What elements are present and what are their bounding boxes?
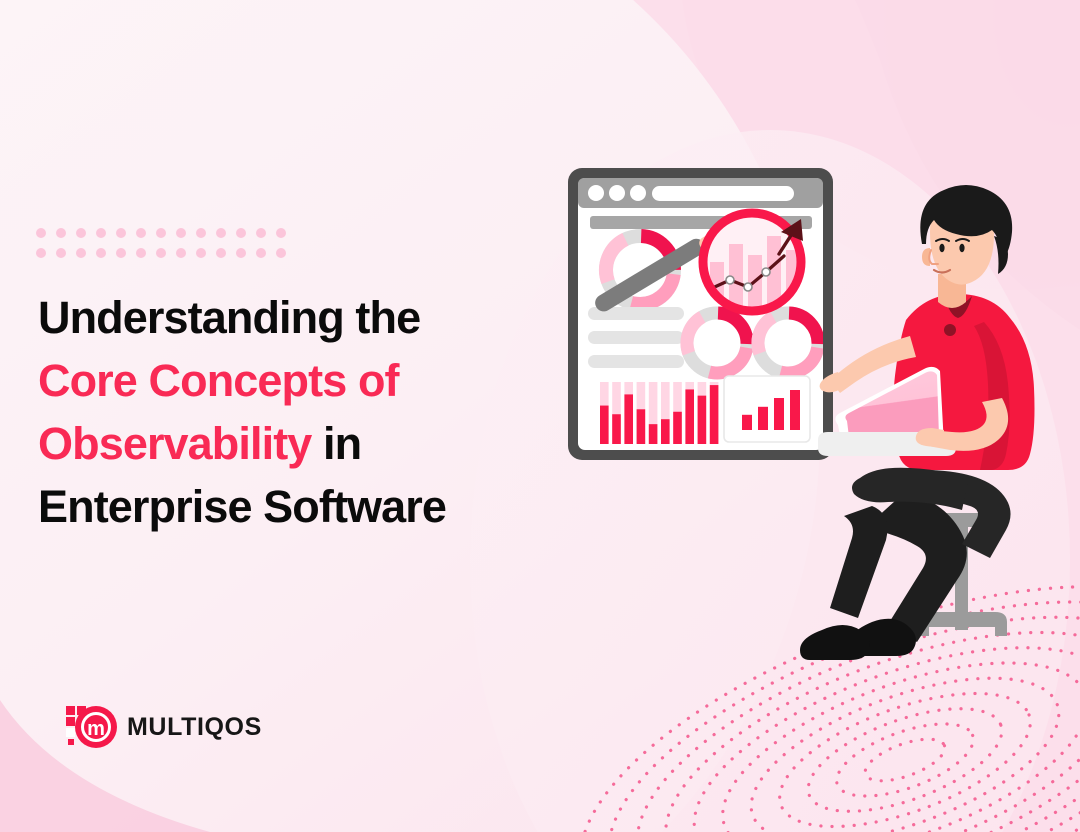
decor-dot (136, 228, 146, 238)
title-text: Enterprise Software (38, 481, 446, 532)
decor-dot (56, 228, 66, 238)
decor-dot (236, 228, 246, 238)
decor-dot (176, 248, 186, 258)
poster-canvas: Understanding theCore Concepts ofObserva… (0, 0, 1080, 832)
title-text: Understanding the (38, 292, 420, 343)
decor-dot (156, 248, 166, 258)
decor-dot (76, 248, 86, 258)
decor-dot (216, 228, 226, 238)
title-line: Observability in (38, 412, 598, 475)
decor-dot (76, 228, 86, 238)
decor-dot (96, 228, 106, 238)
decor-dot (256, 248, 266, 258)
logo-wordmark: MULTIQOS (127, 713, 262, 742)
decor-dot (276, 228, 286, 238)
title-accent-text: Core Concepts of (38, 355, 399, 406)
decor-dot (176, 228, 186, 238)
decor-dot (56, 248, 66, 258)
decor-dot (196, 228, 206, 238)
decor-dot (156, 228, 166, 238)
svg-text:m: m (87, 718, 105, 740)
title-line: Enterprise Software (38, 475, 598, 538)
decor-dot (36, 248, 46, 258)
decorative-dot-grid (36, 228, 296, 268)
decor-dot (276, 248, 286, 258)
decor-dot (236, 248, 246, 258)
decor-dot (116, 248, 126, 258)
decor-dot (256, 228, 266, 238)
title-line: Core Concepts of (38, 349, 598, 412)
decor-dot (196, 248, 206, 258)
decor-dot (36, 228, 46, 238)
title-accent-text: Observability (38, 418, 311, 469)
decor-dot (136, 248, 146, 258)
title-line: Understanding the (38, 286, 598, 349)
title-text: in (311, 418, 361, 469)
decor-dot (96, 248, 106, 258)
decor-dot (216, 248, 226, 258)
multiqos-logo[interactable]: m MULTIQOS (64, 700, 262, 754)
pixel-m-circle-icon: m (64, 700, 118, 754)
decor-dot (116, 228, 126, 238)
page-title: Understanding theCore Concepts ofObserva… (38, 286, 598, 538)
